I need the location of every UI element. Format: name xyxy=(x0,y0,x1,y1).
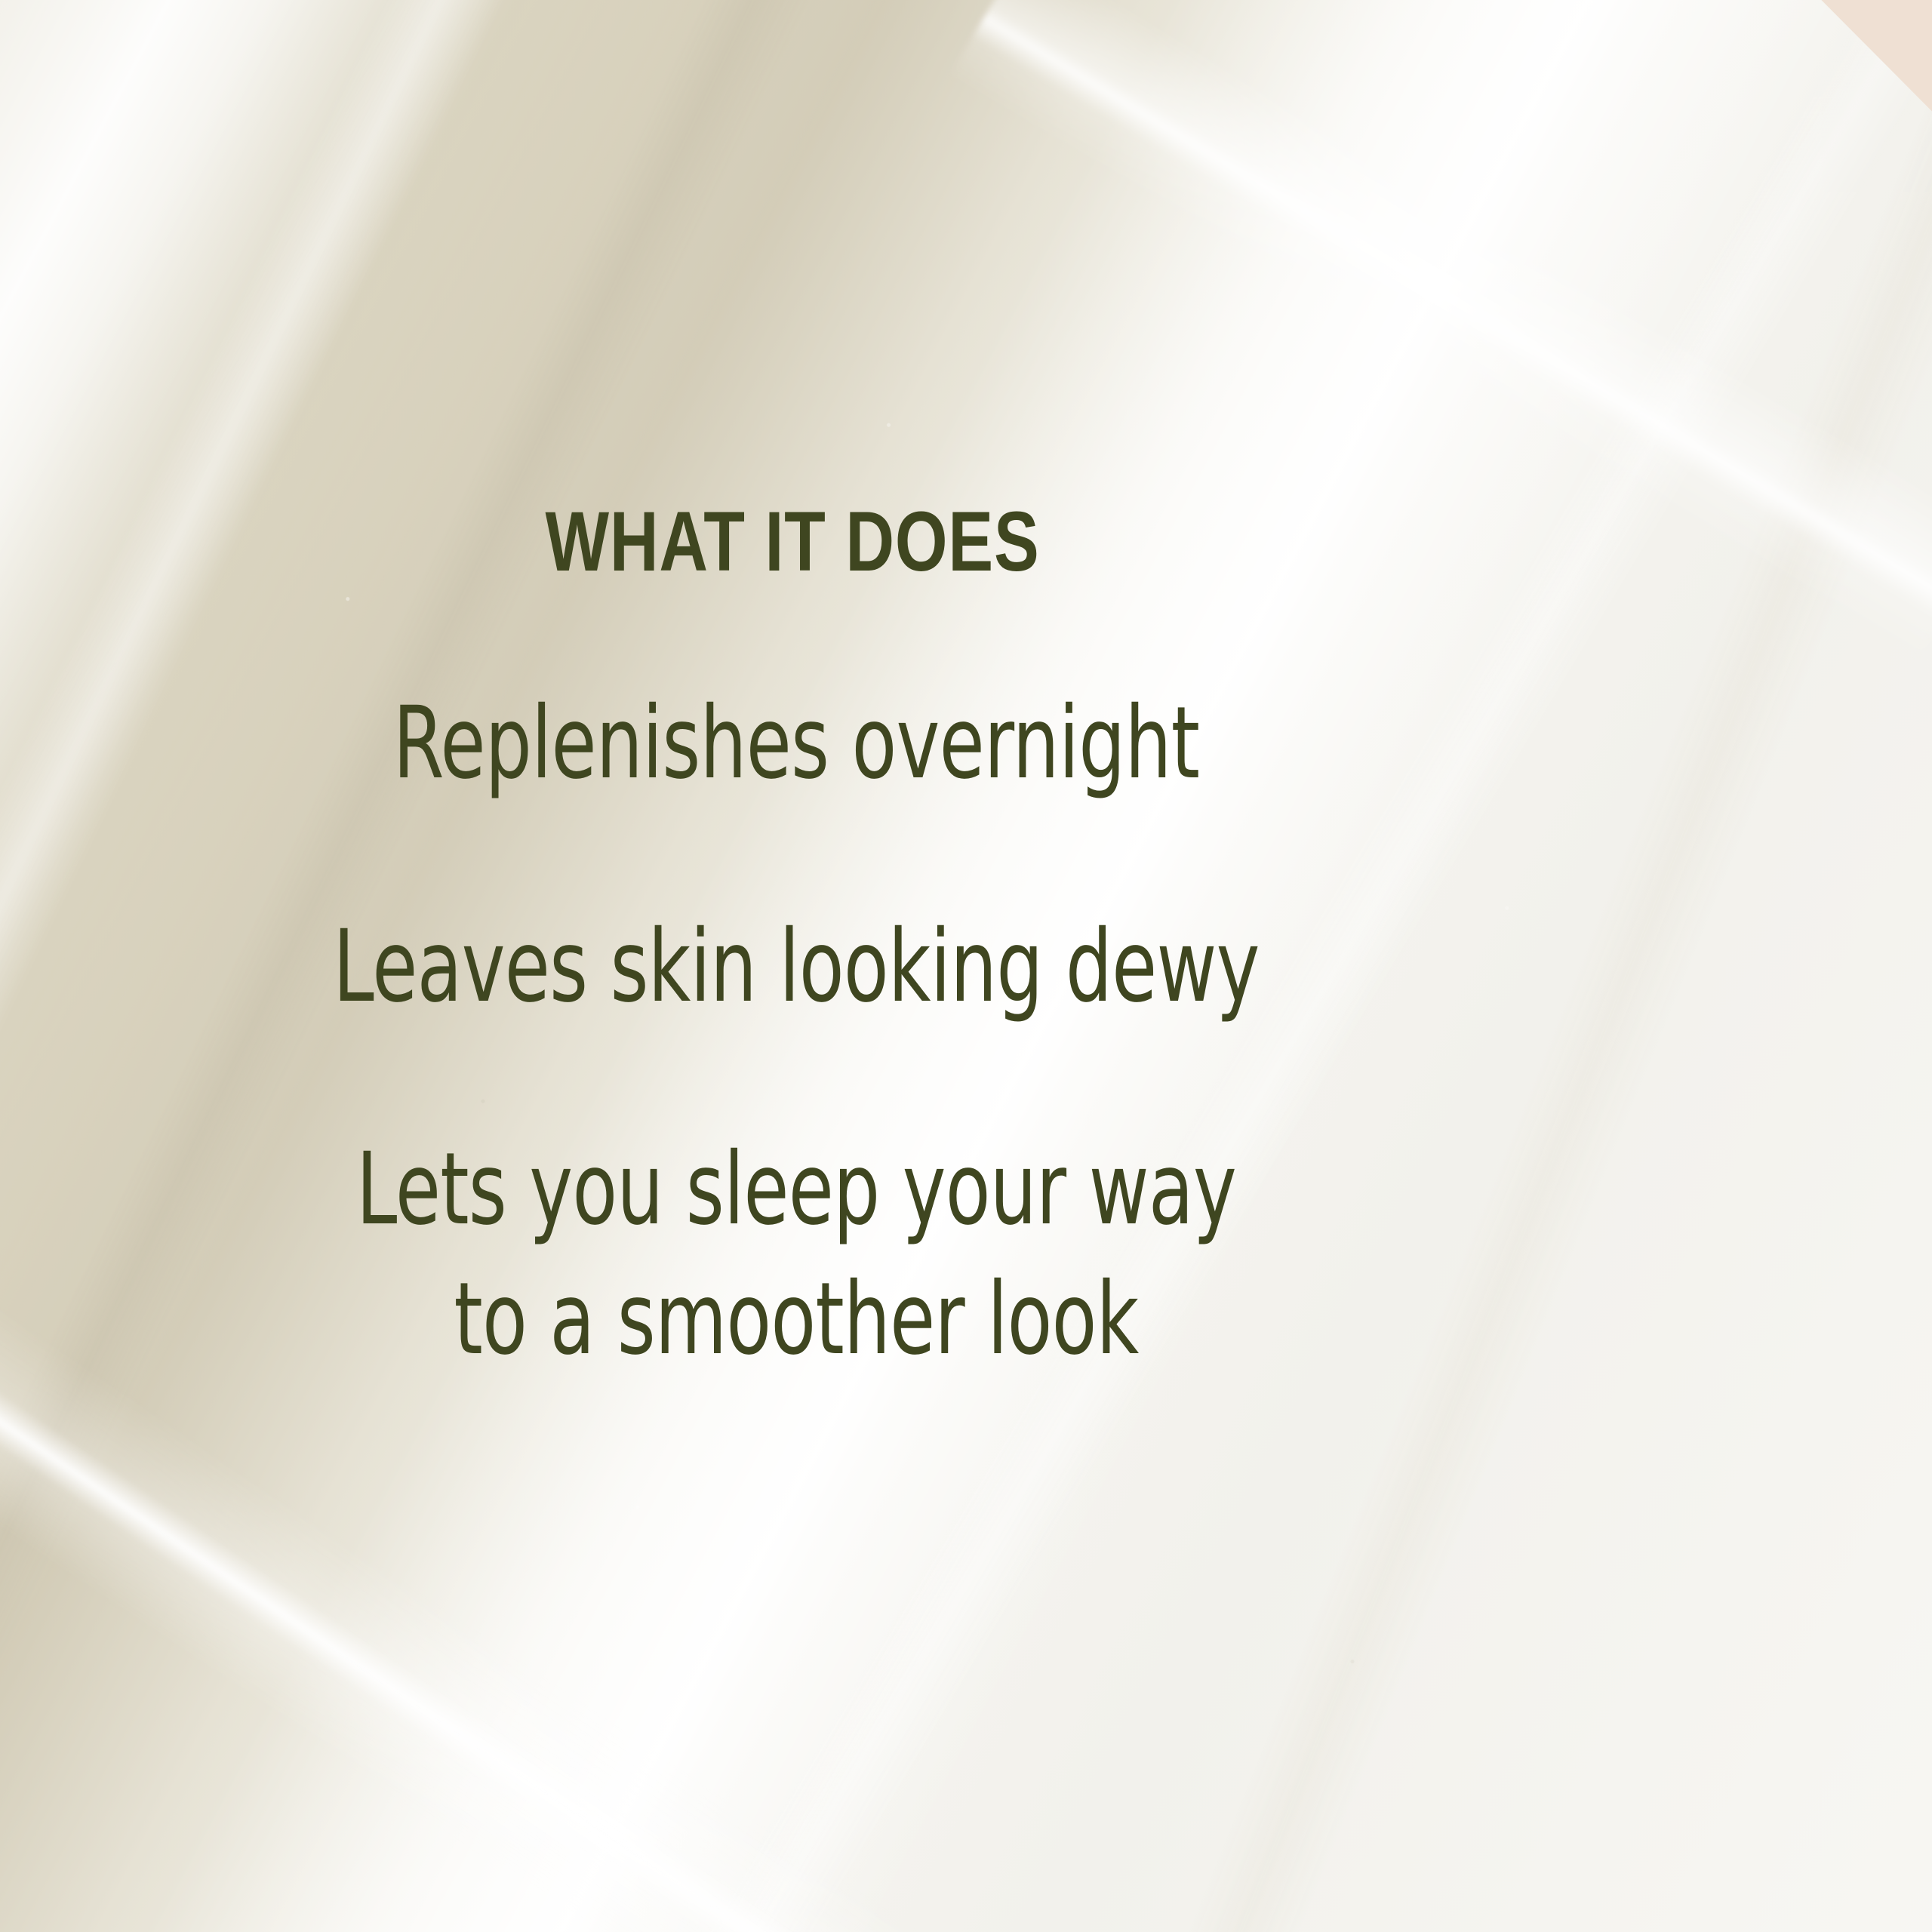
benefit-list: Replenishes overnight Leaves skin lookin… xyxy=(0,679,1592,1384)
benefit-3-line-2: to a smoother look xyxy=(207,1255,1385,1385)
benefit-item-2: Leaves skin looking dewy xyxy=(207,903,1385,1032)
product-benefits-card: WHAT IT DOES Replenishes overnight Leave… xyxy=(0,0,1932,1932)
benefit-item-1: Replenishes overnight xyxy=(207,679,1385,809)
benefit-item-3: Lets you sleep your way to a smoother lo… xyxy=(207,1125,1385,1384)
section-eyebrow-heading: WHAT IT DOES xyxy=(158,500,1426,584)
benefit-3-line-1: Lets you sleep your way xyxy=(356,1131,1236,1247)
benefit-1-line-1: Replenishes overnight xyxy=(393,685,1200,801)
benefit-2-line-1: Leaves skin looking dewy xyxy=(333,909,1259,1025)
